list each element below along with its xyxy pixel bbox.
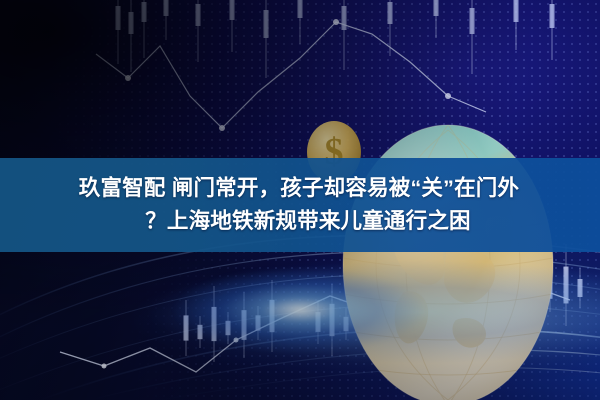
banner-image: $ $ <box>0 0 600 400</box>
headline-line-1: 玖富智配 闸门常开，孩子却容易被“关”在门外 <box>79 172 521 205</box>
headline-line-2: ？上海地铁新规带来儿童通行之困 <box>129 205 471 238</box>
headline: 玖富智配 闸门常开，孩子却容易被“关”在门外 ？上海地铁新规带来儿童通行之困 <box>0 158 600 252</box>
